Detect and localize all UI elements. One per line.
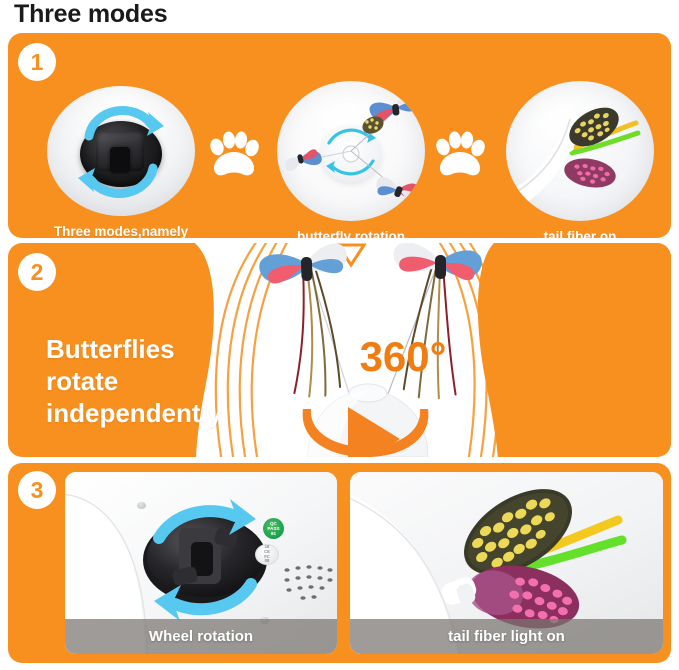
panel-number-badge-3: 3 — [18, 471, 56, 509]
panel-wheel-and-fiber: 3 — [8, 463, 671, 663]
certification-sticker: 18CEFC08 — [255, 544, 279, 565]
panel-butterflies-rotate: 2 — [8, 243, 671, 457]
mode-item-wheel-rotation: Three modes,namely wheel rotation — [36, 86, 206, 238]
paw-print-icon — [432, 129, 488, 181]
mode-caption-3: tail fiber on — [495, 228, 665, 238]
page-title: Three modes — [14, 0, 167, 29]
panel-three-modes: 1 Three modes,namely wheel rotation — [8, 33, 671, 238]
mode-item-tail-fiber: tail fiber on — [495, 81, 665, 238]
butterfly-rotation-photo — [277, 81, 425, 221]
screw-icon — [137, 502, 146, 509]
panel-number-badge-1: 1 — [18, 43, 56, 81]
degree-label: 360° — [360, 333, 447, 380]
panel2-headline: Butterflies rotate independently — [46, 333, 222, 429]
paw-print-icon — [206, 129, 262, 181]
speaker-grille-icon — [283, 564, 335, 604]
tail-feather-icon — [506, 81, 654, 221]
card-caption-wheel-rotation: Wheel rotation — [65, 619, 337, 654]
tail-fiber-photo — [506, 81, 654, 221]
infographic-page: Three modes 1 Three modes,namely wheel r… — [0, 0, 679, 670]
mode-caption-1: Three modes,namely wheel rotation — [36, 223, 206, 238]
card-caption-tail-fiber: tail fiber light on — [350, 619, 663, 654]
mode-item-butterfly-rotation: butterfly rotation — [266, 81, 436, 238]
hub-rotation-arrows-icon — [277, 81, 425, 221]
qc-pass-sticker: QCPASS81 — [263, 518, 284, 539]
panel-number-badge-2: 2 — [18, 253, 56, 291]
card-wheel-rotation: QCPASS81 18CEFC08 Wheel rotation — [65, 472, 337, 654]
rotation-arrows-icon — [47, 86, 195, 216]
mode-caption-2: butterfly rotation — [266, 228, 436, 238]
card-tail-fiber-light: tail fiber light on — [350, 472, 663, 654]
wheel-rotation-photo — [47, 86, 195, 216]
